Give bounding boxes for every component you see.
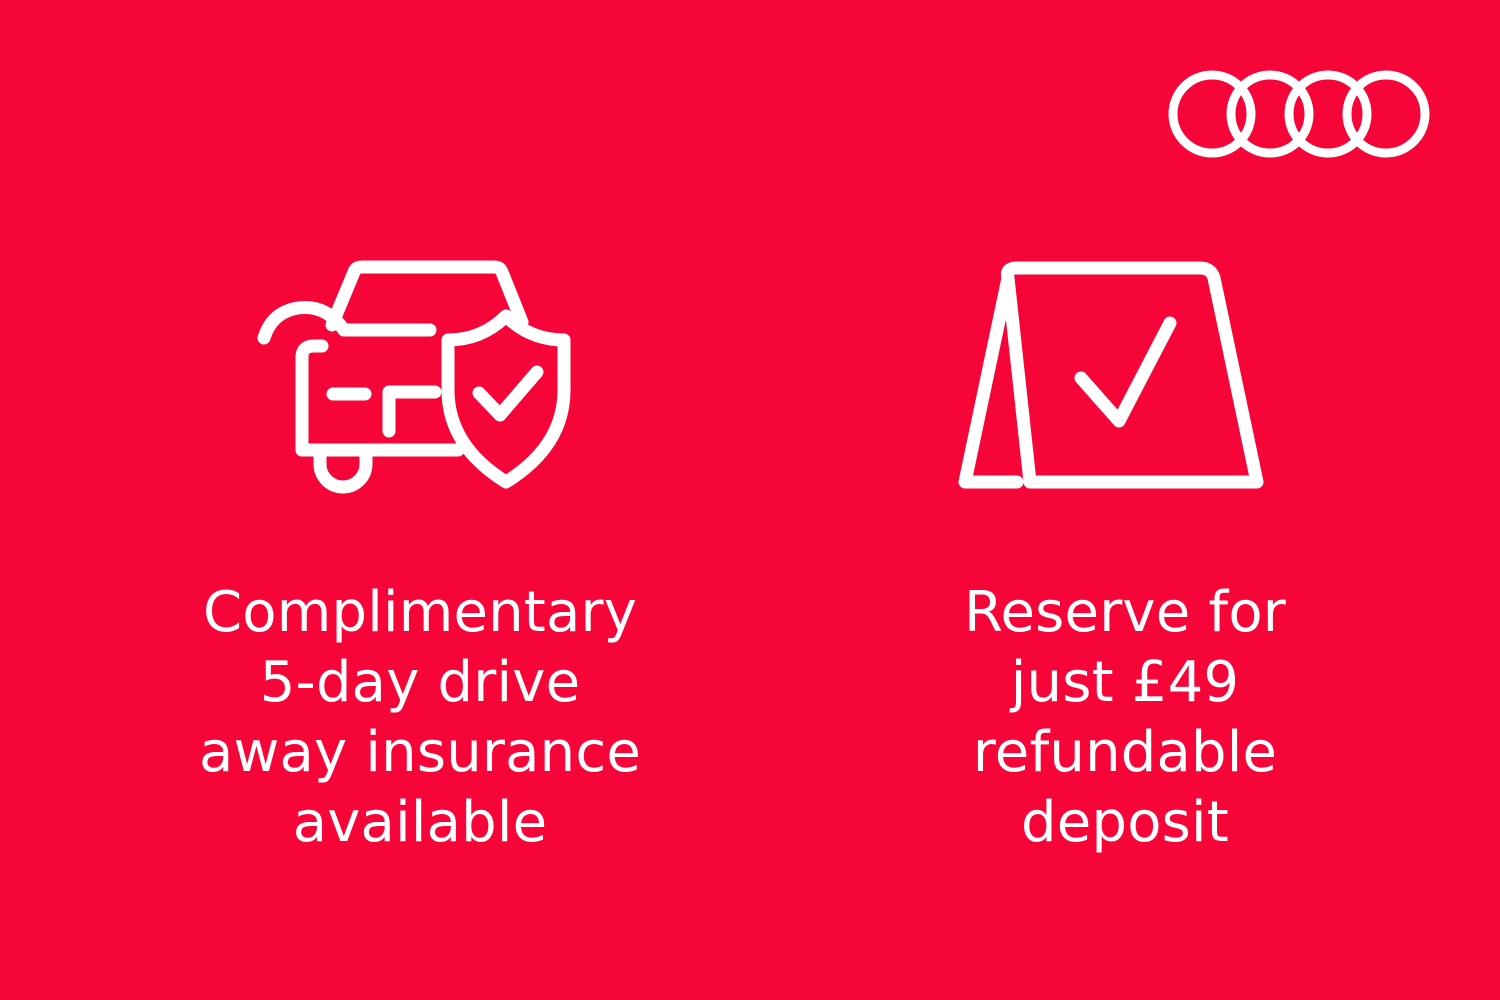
car-door-detail [389, 392, 435, 431]
car-hood-curve [264, 307, 430, 338]
audi-ring-4 [1347, 75, 1425, 153]
shield-check-icon [479, 372, 537, 415]
feature-deposit: Reserve for just £49 refundable deposit [815, 250, 1435, 858]
audi-four-rings-logo [1168, 66, 1430, 162]
folded-card-check-icon [945, 250, 1305, 500]
feature-insurance: Complimentary 5-day drive away insurance… [110, 250, 730, 858]
feature-insurance-caption: Complimentary 5-day drive away insurance… [110, 578, 730, 858]
card-check-icon [1081, 323, 1170, 421]
folded-card-check-svg [955, 250, 1295, 500]
card-front-face [1007, 268, 1257, 482]
car-shield-icon [240, 250, 600, 500]
audi-rings-svg [1168, 66, 1430, 162]
car-shield-svg [250, 250, 590, 500]
feature-deposit-caption: Reserve for just £49 refundable deposit [815, 578, 1435, 858]
promo-banner: Complimentary 5-day drive away insurance… [0, 0, 1500, 1000]
car-roof-line [332, 267, 522, 325]
